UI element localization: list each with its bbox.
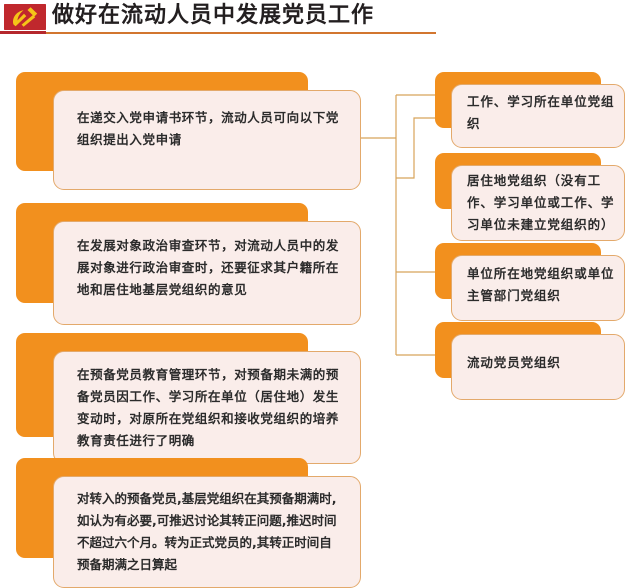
org-card-2-text: 居住地党组织（没有工作、学习单位或工作、学习单位未建立党组织的） (467, 170, 615, 236)
stage-card-3[interactable]: 在预备党员教育管理环节，对预备期未满的预备党员因工作、学习所在单位（居住地）发生… (16, 333, 361, 464)
stage-card-2[interactable]: 在发展对象政治审查环节，对流动人员中的发展对象进行政治审查时，还要征求其户籍所在… (16, 203, 361, 325)
org-card-1[interactable]: 工作、学习所在单位党组织 (435, 72, 625, 152)
stage-card-4[interactable]: 对转入的预备党员,基层党组织在其预备期满时,如认为有必要,可推迟讨论其转正问题,… (16, 458, 361, 566)
diagram-page: 做好在流动人员中发展党员工作 在递交入党申请书环节，流动人员可向以下党组织提出入… (0, 0, 625, 566)
org-card-4[interactable]: 流动党员党组织 (435, 322, 625, 402)
title-rule-red (0, 31, 46, 34)
stage-card-1-text: 在递交入党申请书环节，流动人员可向以下党组织提出入党申请 (77, 107, 343, 151)
org-card-1-text: 工作、学习所在单位党组织 (467, 91, 615, 135)
page-header: 做好在流动人员中发展党员工作 (0, 0, 625, 44)
org-card-3-text: 单位所在地党组织或单位主管部门党组织 (467, 263, 615, 307)
org-card-4-text: 流动党员党组织 (467, 352, 615, 374)
page-title: 做好在流动人员中发展党员工作 (52, 1, 374, 31)
org-card-3[interactable]: 单位所在地党组织或单位主管部门党组织 (435, 243, 625, 323)
cpc-party-flag-hammer-sickle-icon (4, 4, 46, 30)
title-rule-orange (46, 32, 436, 34)
stage-card-3-text: 在预备党员教育管理环节，对预备期未满的预备党员因工作、学习所在单位（居住地）发生… (77, 364, 343, 452)
stage-card-1[interactable]: 在递交入党申请书环节，流动人员可向以下党组织提出入党申请 (16, 72, 361, 190)
stage-card-2-text: 在发展对象政治审查环节，对流动人员中的发展对象进行政治审查时，还要征求其户籍所在… (77, 235, 343, 301)
stage-card-4-text: 对转入的预备党员,基层党组织在其预备期满时,如认为有必要,可推迟讨论其转正问题,… (77, 488, 343, 576)
org-card-2[interactable]: 居住地党组织（没有工作、学习单位或工作、学习单位未建立党组织的） (435, 153, 625, 241)
